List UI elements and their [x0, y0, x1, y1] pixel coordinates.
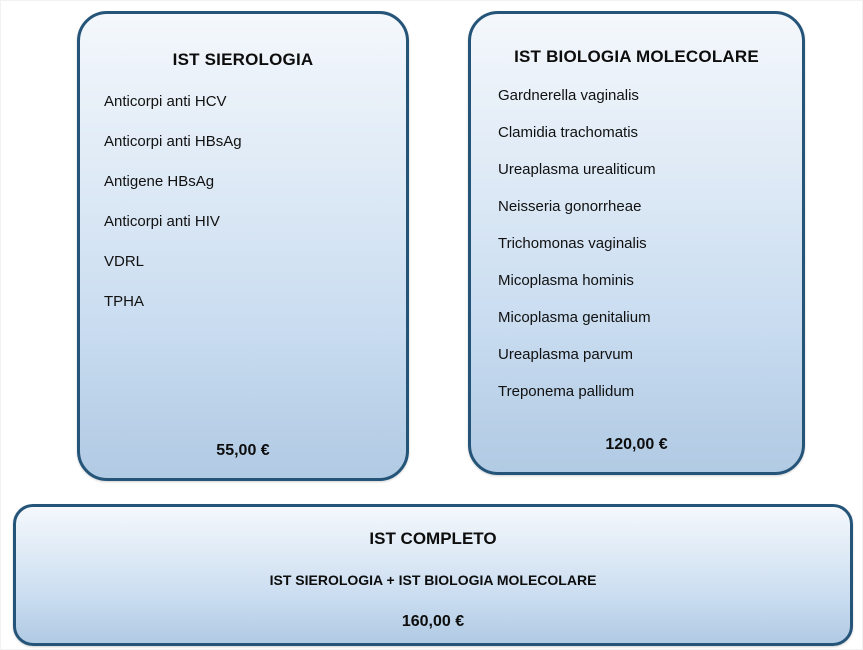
list-item: Anticorpi anti HBsAg [104, 134, 406, 149]
list-item: Ureaplasma parvum [498, 347, 802, 362]
list-item: TPHA [104, 294, 406, 309]
card-sierologia-price: 55,00 € [80, 442, 406, 460]
card-ist-completo[interactable]: IST COMPLETO IST SIEROLOGIA + IST BIOLOG… [13, 504, 853, 646]
list-item: Neisseria gonorrheae [498, 199, 802, 214]
page-root: IST SIEROLOGIA Anticorpi anti HCV Antico… [0, 0, 863, 650]
list-item: Trichomonas vaginalis [498, 236, 802, 251]
list-item: Clamidia trachomatis [498, 125, 802, 140]
biologia-item-list: Gardnerella vaginalis Clamidia trachomat… [498, 88, 802, 399]
list-item: Antigene HBsAg [104, 174, 406, 189]
list-item: VDRL [104, 254, 406, 269]
card-completo-price: 160,00 € [16, 613, 850, 631]
card-ist-sierologia[interactable]: IST SIEROLOGIA Anticorpi anti HCV Antico… [77, 11, 409, 481]
sierologia-item-list: Anticorpi anti HCV Anticorpi anti HBsAg … [104, 94, 406, 309]
list-item: Micoplasma hominis [498, 273, 802, 288]
card-completo-subtitle: IST SIEROLOGIA + IST BIOLOGIA MOLECOLARE [16, 572, 850, 588]
list-item: Gardnerella vaginalis [498, 88, 802, 103]
list-item: Anticorpi anti HCV [104, 94, 406, 109]
card-sierologia-title: IST SIEROLOGIA [80, 50, 406, 70]
list-item: Treponema pallidum [498, 384, 802, 399]
card-biologia-price: 120,00 € [471, 436, 802, 454]
card-completo-title: IST COMPLETO [16, 529, 850, 549]
list-item: Micoplasma genitalium [498, 310, 802, 325]
card-biologia-title: IST BIOLOGIA MOLECOLARE [471, 47, 802, 67]
card-ist-biologia-molecolare[interactable]: IST BIOLOGIA MOLECOLARE Gardnerella vagi… [468, 11, 805, 475]
list-item: Anticorpi anti HIV [104, 214, 406, 229]
list-item: Ureaplasma urealiticum [498, 162, 802, 177]
